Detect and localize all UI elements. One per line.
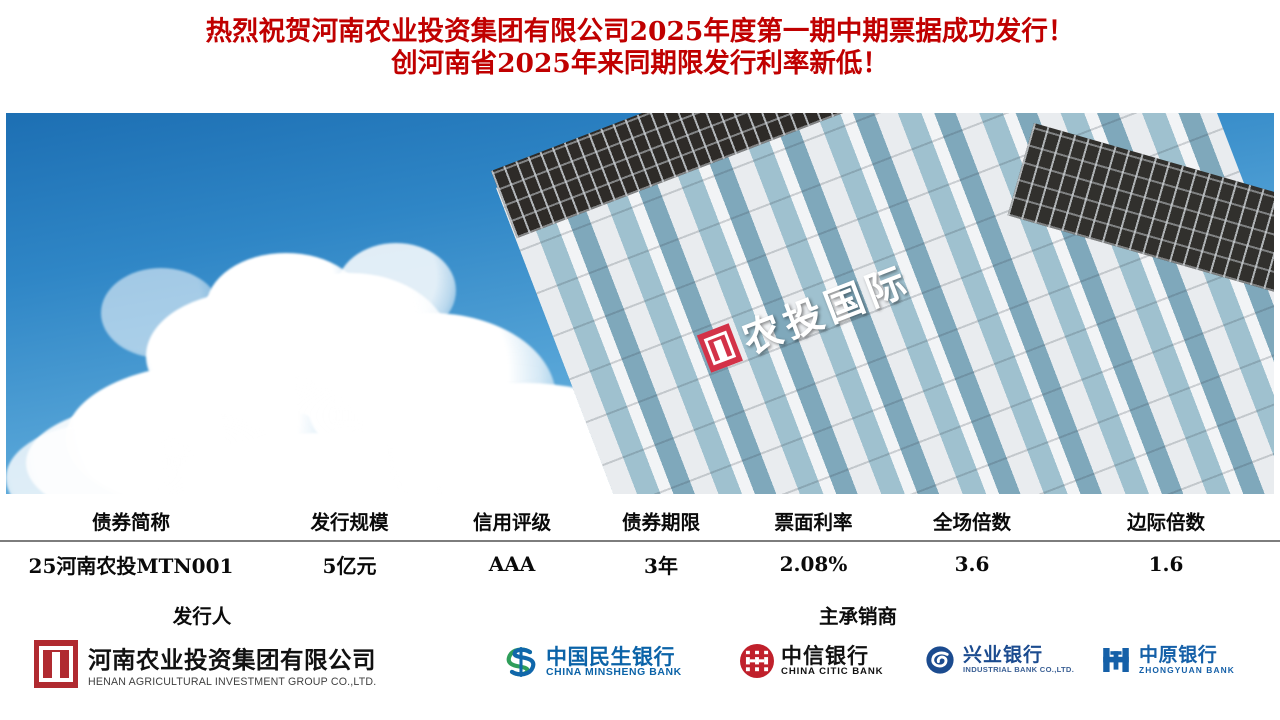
zhongyuan-name-cn: 中原银行 xyxy=(1139,646,1235,666)
headline-line-2: 创河南省2025年来同期限发行利率新低！ xyxy=(0,48,1280,80)
henan-agri-seal-logo-icon xyxy=(34,640,78,688)
citic-name-en: CHINA CITIC BANK xyxy=(781,667,884,677)
underwriter-logo-minsheng: 中国民生银行 CHINA MINSHENG BANK xyxy=(503,644,682,680)
minsheng-name-en: CHINA MINSHENG BANK xyxy=(546,668,682,679)
table-cell-issue-size: 5亿元 xyxy=(262,542,437,586)
underwriter-logo-industrial: 兴业银行 INDUSTRIAL BANK CO.,LTD. xyxy=(924,644,1074,676)
table-header-full-multiple: 全场倍数 xyxy=(892,500,1052,542)
citic-name-block: 中信银行 CHINA CITIC BANK xyxy=(781,645,884,677)
table-cell-margin-multiple: 1.6 xyxy=(1052,542,1280,586)
citic-bank-logo-glyph xyxy=(740,644,774,678)
table-header-issue-size: 发行规模 xyxy=(262,500,437,542)
industrial-bank-logo-icon xyxy=(924,644,956,676)
issuer-section-label: 发行人 xyxy=(112,600,292,629)
table-header-coupon-rate: 票面利率 xyxy=(735,500,892,542)
office-building: 农投国际 xyxy=(436,113,1274,494)
table-cell-bond-term: 3年 xyxy=(587,542,735,586)
issuer-name-block: 河南农业投资集团有限公司 HENAN AGRICULTURAL INVESTME… xyxy=(88,641,376,688)
table-cell-coupon-rate: 2.08% xyxy=(735,542,892,586)
headline: 热烈祝贺河南农业投资集团有限公司2025年度第一期中期票据成功发行！ 创河南省2… xyxy=(0,16,1280,81)
citic-bank-logo-icon xyxy=(740,644,774,678)
industrial-bank-logo-glyph xyxy=(924,644,956,676)
table-cell-credit-rating: AAA xyxy=(437,542,587,586)
table-header-row: 债券简称 发行规模 信用评级 债券期限 票面利率 全场倍数 边际倍数 xyxy=(0,500,1280,542)
hero-photo: 农投国际 xyxy=(6,113,1274,494)
industrial-name-en: INDUSTRIAL BANK CO.,LTD. xyxy=(963,666,1074,674)
zhongyuan-bank-logo-glyph xyxy=(1100,644,1132,676)
underwriter-logo-zhongyuan: 中原银行 ZHONGYUAN BANK xyxy=(1100,644,1235,676)
minsheng-bank-logo-glyph xyxy=(503,644,539,680)
announcement-poster: 热烈祝贺河南农业投资集团有限公司2025年度第一期中期票据成功发行！ 创河南省2… xyxy=(0,0,1280,720)
headline-line-1: 热烈祝贺河南农业投资集团有限公司2025年度第一期中期票据成功发行！ xyxy=(0,16,1280,48)
table-cell-full-multiple: 3.6 xyxy=(892,542,1052,586)
issuer-name-en: HENAN AGRICULTURAL INVESTMENT GROUP CO.,… xyxy=(88,676,376,688)
issuer-logo: 河南农业投资集团有限公司 HENAN AGRICULTURAL INVESTME… xyxy=(34,640,376,688)
underwriters-section-label: 主承销商 xyxy=(768,600,948,629)
table-header-margin-multiple: 边际倍数 xyxy=(1052,500,1280,542)
table-header-bond-term: 债券期限 xyxy=(587,500,735,542)
industrial-name-block: 兴业银行 INDUSTRIAL BANK CO.,LTD. xyxy=(963,646,1074,674)
zhongyuan-name-block: 中原银行 ZHONGYUAN BANK xyxy=(1139,646,1235,675)
table-cell-bond-name: 25河南农投MTN001 xyxy=(0,542,262,586)
table-row: 25河南农投MTN001 5亿元 AAA 3年 2.08% 3.6 1.6 xyxy=(0,542,1280,586)
logo-row: 河南农业投资集团有限公司 HENAN AGRICULTURAL INVESTME… xyxy=(0,636,1280,708)
underwriter-logo-citic: 中信银行 CHINA CITIC BANK xyxy=(740,644,884,678)
minsheng-bank-logo-icon xyxy=(503,644,539,680)
table-header-bond-name: 债券简称 xyxy=(0,500,262,542)
citic-name-cn: 中信银行 xyxy=(781,645,884,667)
table-header-credit-rating: 信用评级 xyxy=(437,500,587,542)
issuer-name-cn: 河南农业投资集团有限公司 xyxy=(88,641,376,675)
minsheng-name-cn: 中国民生银行 xyxy=(546,646,682,668)
zhongyuan-bank-logo-icon xyxy=(1100,644,1132,676)
zhongyuan-name-en: ZHONGYUAN BANK xyxy=(1139,666,1235,675)
industrial-name-cn: 兴业银行 xyxy=(963,646,1074,666)
minsheng-name-block: 中国民生银行 CHINA MINSHENG BANK xyxy=(546,646,682,679)
bond-details-table: 债券简称 发行规模 信用评级 债券期限 票面利率 全场倍数 边际倍数 25河南农… xyxy=(0,500,1280,586)
